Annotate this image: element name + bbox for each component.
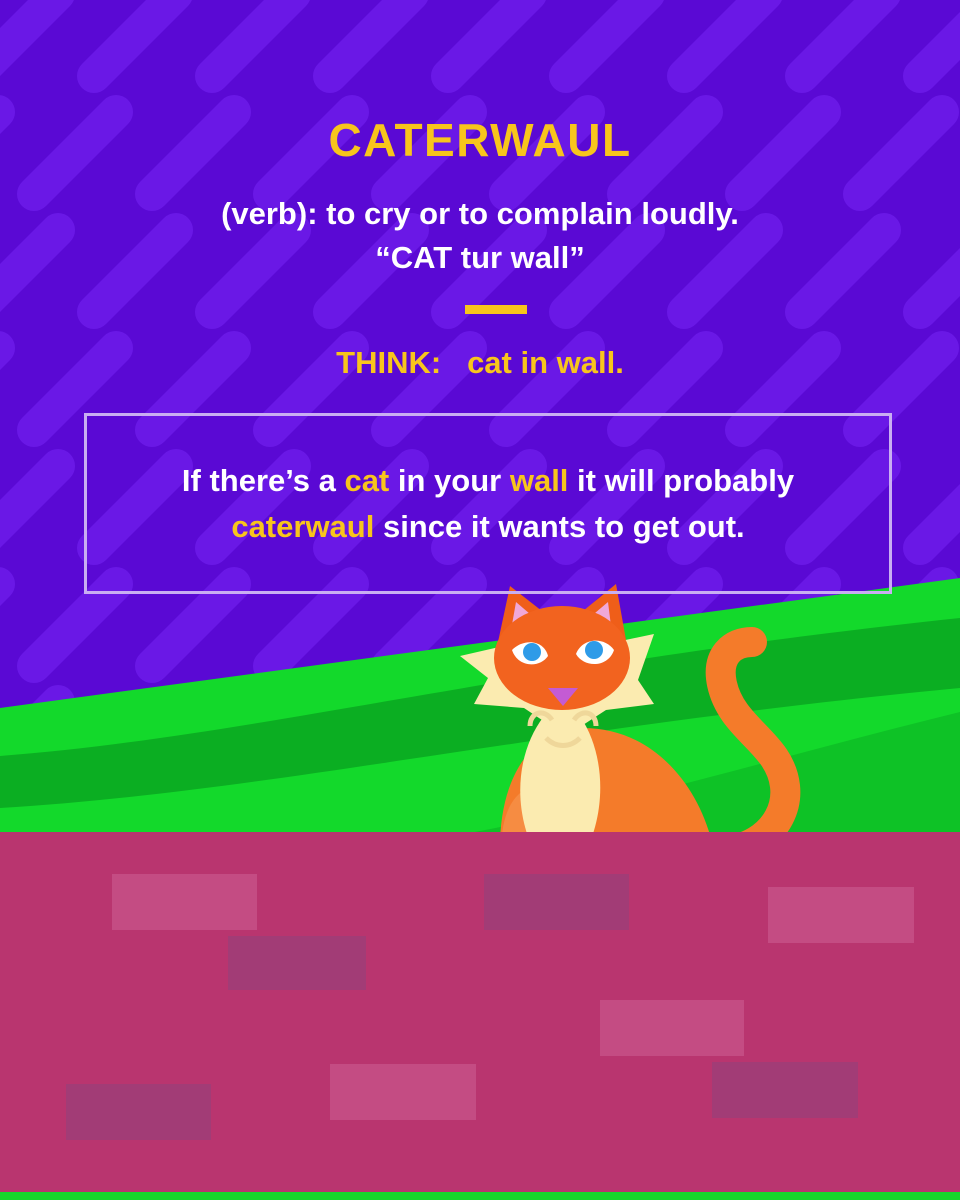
brick	[66, 1084, 211, 1140]
definition-line-1: (verb): to cry or to complain loudly.	[0, 192, 960, 236]
brick	[484, 874, 629, 930]
page-title: CATERWAUL	[0, 113, 960, 167]
example-highlight-cat: cat	[344, 463, 389, 498]
example-highlight-caterwaul: caterwaul	[231, 509, 374, 544]
example-highlight-wall: wall	[510, 463, 569, 498]
think-line: THINK: cat in wall.	[0, 345, 960, 381]
floor-stripe	[0, 1192, 960, 1200]
text-content: CATERWAUL (verb): to cry or to complain …	[0, 0, 960, 620]
think-label: THINK:	[336, 345, 441, 380]
brick-wall	[0, 832, 960, 1192]
example-part-4: since it wants to get out.	[374, 509, 744, 544]
example-box: If there’s a cat in your wall it will pr…	[84, 413, 892, 594]
pronunciation-line: “CAT tur wall”	[0, 236, 960, 280]
brick	[112, 874, 257, 930]
definition-block: (verb): to cry or to complain loudly. “C…	[0, 192, 960, 280]
brick	[228, 936, 366, 990]
brick	[330, 1064, 476, 1120]
brick	[768, 887, 914, 943]
yellow-divider	[465, 305, 527, 314]
brick	[712, 1062, 858, 1118]
think-phrase: cat in wall.	[467, 345, 624, 380]
brick	[600, 1000, 744, 1056]
vocabulary-poster: CATERWAUL (verb): to cry or to complain …	[0, 0, 960, 1200]
example-part-1: If there’s a	[182, 463, 345, 498]
example-part-3: it will probably	[568, 463, 794, 498]
example-part-2: in your	[389, 463, 510, 498]
example-sentence: If there’s a cat in your wall it will pr…	[158, 458, 818, 550]
